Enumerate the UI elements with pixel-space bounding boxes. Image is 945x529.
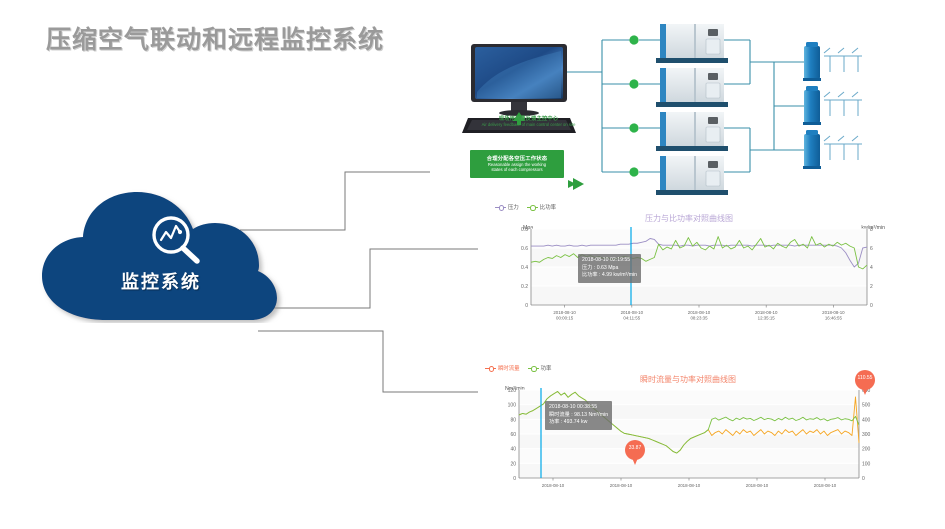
min-marker-value: 33.87: [625, 445, 645, 451]
page-title: 压缩空气联动和远程监控系统: [46, 20, 384, 56]
control-center-caption-en: Air delivery feedback of main control ce…: [466, 123, 591, 128]
control-center-caption: 现场用气量反馈主控中心 Air delivery feedback of mai…: [466, 117, 591, 128]
pressure-chart[interactable]: 压力 比功率 压力与比功率对照曲线图 Mpa kw/m³/min 0.80.60…: [493, 201, 885, 329]
cloud-label: 监控系统: [36, 268, 286, 294]
pressure-tooltip-row2: 比功率 : 4.99 kw/m³/min: [582, 272, 637, 280]
svg-text:4: 4: [870, 265, 873, 271]
svg-text:0: 0: [870, 303, 873, 309]
svg-text:200: 200: [862, 447, 871, 453]
magnifier-chart-icon: [144, 214, 206, 266]
flow-tooltip-time: 2018-08-10 00:38:55: [549, 404, 608, 412]
svg-text:04:11:55: 04:11:55: [623, 316, 640, 321]
svg-text:2018-08-10: 2018-08-10: [688, 310, 711, 315]
flow-power-chart-plot: 12010080604020060050040030020010002018-0…: [483, 362, 893, 507]
svg-text:0.4: 0.4: [521, 265, 528, 271]
svg-text:2018-08-10: 2018-08-10: [822, 310, 845, 315]
svg-text:2018-08-10: 2018-08-10: [621, 310, 644, 315]
pressure-chart-tooltip: 2018-08-10 02:19:55 压力 : 0.63 Mpa 比功率 : …: [578, 254, 641, 283]
svg-text:16:46:55: 16:46:55: [825, 316, 843, 321]
svg-text:0.6: 0.6: [521, 246, 528, 252]
svg-text:40: 40: [510, 447, 516, 453]
svg-text:08:23:35: 08:23:35: [690, 316, 708, 321]
svg-text:2018-08-10: 2018-08-10: [553, 310, 576, 315]
svg-text:00:00:15: 00:00:15: [556, 316, 574, 321]
svg-text:0: 0: [513, 476, 516, 482]
slide-canvas: 压缩空气联动和远程监控系统 监控系统: [0, 0, 945, 529]
svg-text:60: 60: [510, 432, 516, 438]
svg-text:2018-08-10: 2018-08-10: [542, 483, 565, 488]
pressure-tooltip-time: 2018-08-10 02:19:55: [582, 257, 637, 265]
svg-text:2018-08-10: 2018-08-10: [610, 483, 633, 488]
svg-text:100: 100: [862, 461, 871, 467]
topology-svg: [432, 20, 932, 210]
svg-text:2: 2: [870, 284, 873, 290]
svg-text:8: 8: [870, 227, 873, 233]
svg-text:20: 20: [510, 461, 516, 467]
svg-text:0: 0: [862, 476, 865, 482]
svg-text:12:35:15: 12:35:15: [758, 316, 776, 321]
min-marker[interactable]: 33.87: [625, 440, 645, 466]
svg-text:6: 6: [870, 246, 873, 252]
monitoring-cloud[interactable]: 监控系统: [36, 188, 286, 323]
svg-text:120: 120: [508, 388, 517, 394]
air-tanks: [803, 42, 862, 169]
svg-text:2018-08-10: 2018-08-10: [814, 483, 837, 488]
flow-tooltip-row1: 瞬时流量 : 98.13 Nm³/min: [549, 412, 608, 420]
svg-text:80: 80: [510, 417, 516, 423]
pressure-chart-plot: 0.80.60.40.20864202018-08-1000:00:152018…: [493, 201, 885, 329]
svg-text:100: 100: [508, 403, 517, 409]
svg-text:0.8: 0.8: [521, 227, 528, 233]
svg-text:2018-08-10: 2018-08-10: [678, 483, 701, 488]
allocation-callout-en-2: states of each compressors: [491, 167, 542, 172]
svg-text:0.2: 0.2: [521, 284, 528, 290]
allocation-callout: 合理分配各空压工作状态 Reasonable assign the workin…: [470, 150, 564, 178]
topology-diagram: [432, 20, 932, 210]
flow-power-tooltip: 2018-08-10 00:38:55 瞬时流量 : 98.13 Nm³/min…: [545, 401, 612, 430]
svg-text:500: 500: [862, 403, 871, 409]
flow-tooltip-row2: 功率 : 493.74 kw: [549, 419, 608, 427]
right-arrow-icon: [568, 178, 584, 190]
svg-text:2018-08-10: 2018-08-10: [746, 483, 769, 488]
svg-text:0: 0: [525, 303, 528, 309]
svg-text:2018-08-10: 2018-08-10: [755, 310, 778, 315]
pressure-tooltip-row1: 压力 : 0.63 Mpa: [582, 265, 637, 273]
node-indicators: [629, 35, 638, 176]
svg-text:400: 400: [862, 417, 871, 423]
max-marker-value: 110.55: [855, 375, 875, 381]
max-marker[interactable]: 110.55: [855, 370, 875, 396]
flow-power-chart[interactable]: 瞬时流量 功率 瞬时流量与功率对照曲线图 Nm³/min 12010080604…: [483, 362, 893, 507]
svg-text:300: 300: [862, 432, 871, 438]
compressor-units: [656, 24, 728, 195]
